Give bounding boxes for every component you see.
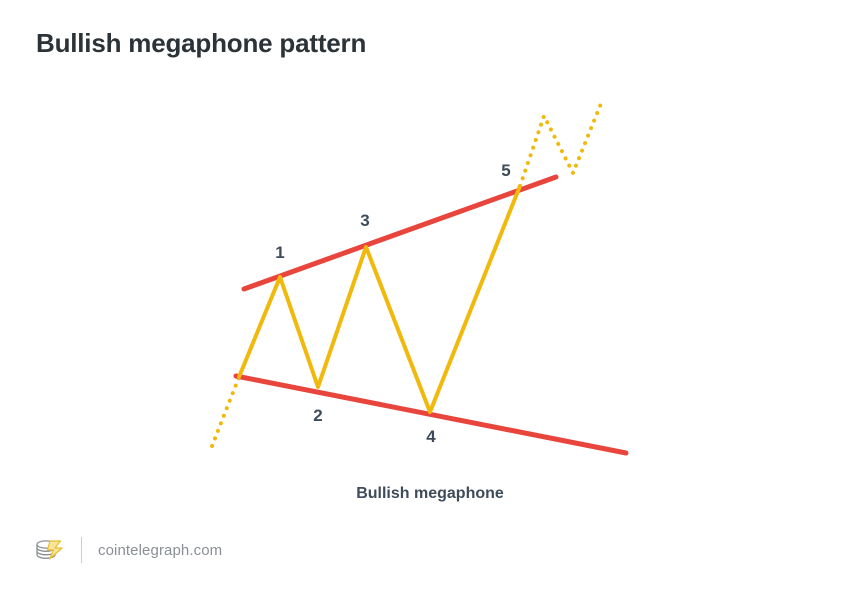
infographic-canvas: Bullish megaphone pattern 12345 Bullish … bbox=[0, 0, 861, 600]
wave-label-1: 1 bbox=[275, 243, 284, 263]
cointelegraph-logo-icon bbox=[33, 535, 67, 565]
series-upper-trendline bbox=[244, 177, 556, 289]
wave-label-3: 3 bbox=[360, 211, 369, 231]
chart-caption: Bullish megaphone bbox=[356, 485, 504, 503]
wave-label-2: 2 bbox=[313, 406, 322, 426]
wave-label-4: 4 bbox=[426, 427, 435, 447]
footer: cointelegraph.com bbox=[33, 531, 222, 569]
footer-site-label: cointelegraph.com bbox=[98, 542, 222, 559]
series-price-wave-solid bbox=[239, 186, 520, 412]
series-price-wave-dotted-start bbox=[212, 377, 239, 446]
wave-label-5: 5 bbox=[501, 161, 510, 181]
chart-svg bbox=[0, 0, 861, 600]
footer-divider bbox=[81, 537, 82, 563]
megaphone-pattern-chart: 12345 bbox=[0, 0, 861, 600]
series-price-wave-dotted-projection bbox=[520, 101, 602, 186]
